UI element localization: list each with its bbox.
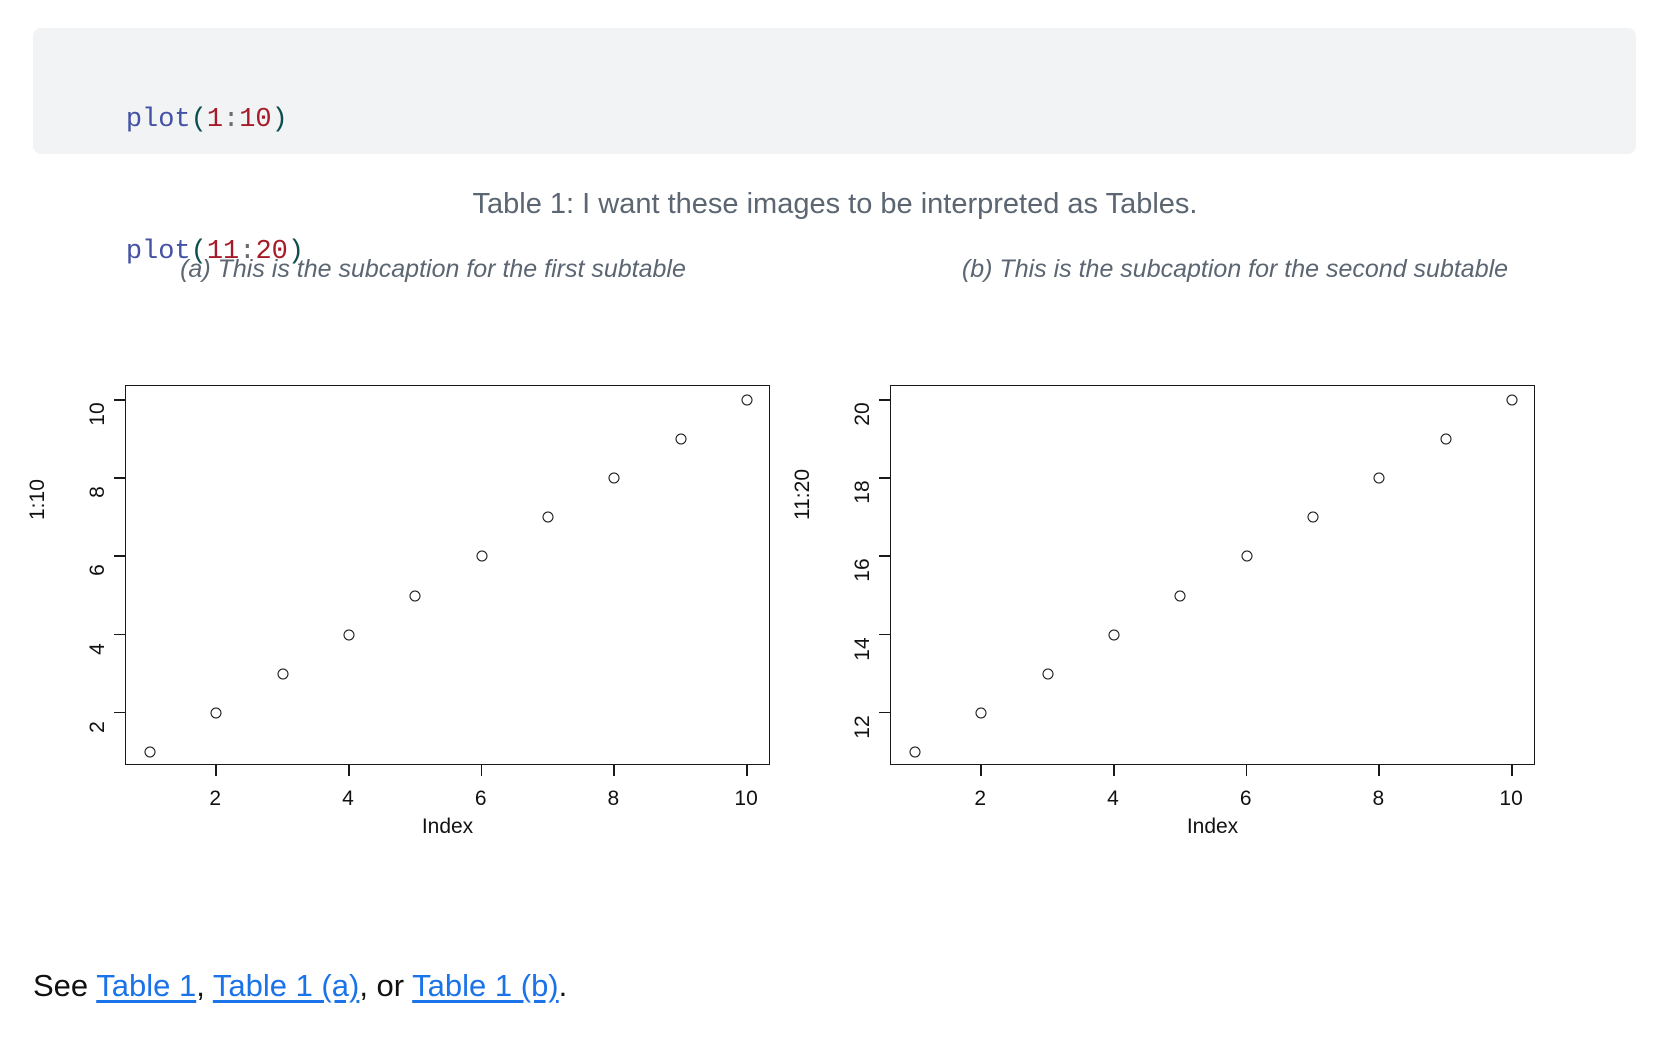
footer-suffix: .	[559, 968, 568, 1003]
data-point	[609, 473, 620, 484]
x-tick-mark	[1511, 765, 1513, 776]
x-tick-mark	[980, 765, 982, 776]
x-tick-label: 10	[734, 787, 757, 811]
x-tick-mark	[481, 765, 483, 776]
y-tick-label: 14	[851, 634, 875, 664]
y-tick-mark	[879, 399, 890, 401]
code-function-name: plot	[126, 105, 191, 135]
code-line-1: plot(1:10)	[61, 54, 1636, 186]
link-table-1[interactable]: Table 1	[96, 968, 196, 1003]
data-point	[976, 707, 987, 718]
y-tick-mark	[114, 712, 125, 714]
y-tick-label: 10	[86, 399, 110, 429]
data-point	[1374, 473, 1385, 484]
scatter-plot-a	[125, 385, 770, 765]
y-tick-mark	[879, 712, 890, 714]
x-axis-title: Index	[890, 815, 1535, 839]
subcaption-b: (b) This is the subcaption for the secon…	[835, 255, 1635, 284]
data-point	[1507, 395, 1518, 406]
link-table-1-b[interactable]: Table 1 (b)	[412, 968, 558, 1003]
data-point	[410, 590, 421, 601]
x-tick-label: 8	[1373, 787, 1385, 811]
x-tick-label: 4	[1107, 787, 1119, 811]
subtable-b-figure: 11:20 2468101214161820 Index	[785, 340, 1585, 860]
x-tick-mark	[1246, 765, 1248, 776]
x-tick-label: 8	[608, 787, 620, 811]
data-point	[1108, 629, 1119, 640]
y-tick-label: 16	[851, 555, 875, 585]
y-tick-label: 6	[86, 555, 110, 585]
footer-reference-text: See Table 1, Table 1 (a), or Table 1 (b)…	[33, 968, 567, 1004]
x-tick-label: 2	[209, 787, 221, 811]
table-caption: Table 1: I want these images to be inter…	[0, 188, 1670, 221]
x-tick-label: 2	[974, 787, 986, 811]
y-tick-mark	[114, 555, 125, 557]
footer-sep-1: ,	[196, 968, 213, 1003]
y-axis-title: 11:20	[791, 469, 815, 520]
data-point	[1308, 512, 1319, 523]
data-point	[1241, 551, 1252, 562]
data-point	[543, 512, 554, 523]
code-number-start: 1	[207, 105, 223, 135]
footer-sep-2: , or	[359, 968, 412, 1003]
data-point	[675, 434, 686, 445]
data-point	[742, 395, 753, 406]
y-tick-label: 12	[851, 712, 875, 742]
x-tick-label: 6	[1240, 787, 1252, 811]
code-number-end: 10	[239, 105, 271, 135]
x-tick-label: 4	[342, 787, 354, 811]
x-axis-title: Index	[125, 815, 770, 839]
data-point	[144, 746, 155, 757]
y-tick-label: 2	[86, 712, 110, 742]
x-tick-mark	[613, 765, 615, 776]
y-tick-label: 4	[86, 634, 110, 664]
code-close-paren: )	[272, 105, 288, 135]
subcaption-a: (a) This is the subcaption for the first…	[33, 255, 833, 284]
y-tick-mark	[879, 555, 890, 557]
x-tick-mark	[1113, 765, 1115, 776]
scatter-plot-b	[890, 385, 1535, 765]
link-table-1-a[interactable]: Table 1 (a)	[213, 968, 359, 1003]
y-tick-mark	[114, 477, 125, 479]
y-tick-label: 20	[851, 399, 875, 429]
y-tick-label: 8	[86, 477, 110, 507]
y-tick-mark	[114, 634, 125, 636]
data-point	[909, 746, 920, 757]
y-axis-title: 1:10	[26, 479, 50, 520]
x-tick-label: 10	[1499, 787, 1522, 811]
code-colon-operator: :	[223, 105, 239, 135]
x-tick-mark	[348, 765, 350, 776]
x-tick-mark	[1378, 765, 1380, 776]
data-point	[1042, 668, 1053, 679]
x-tick-label: 6	[475, 787, 487, 811]
y-tick-label: 18	[851, 477, 875, 507]
code-block: plot(1:10) plot(11:20)	[33, 28, 1636, 154]
subtable-a-figure: 1:10 246810246810 Index	[20, 340, 820, 860]
code-open-paren: (	[191, 105, 207, 135]
data-point	[211, 707, 222, 718]
data-point	[1175, 590, 1186, 601]
y-tick-mark	[879, 477, 890, 479]
x-tick-mark	[746, 765, 748, 776]
y-tick-mark	[114, 399, 125, 401]
data-point	[476, 551, 487, 562]
y-tick-mark	[879, 634, 890, 636]
footer-prefix: See	[33, 968, 96, 1003]
data-point	[1440, 434, 1451, 445]
data-point	[343, 629, 354, 640]
x-tick-mark	[215, 765, 217, 776]
data-point	[277, 668, 288, 679]
